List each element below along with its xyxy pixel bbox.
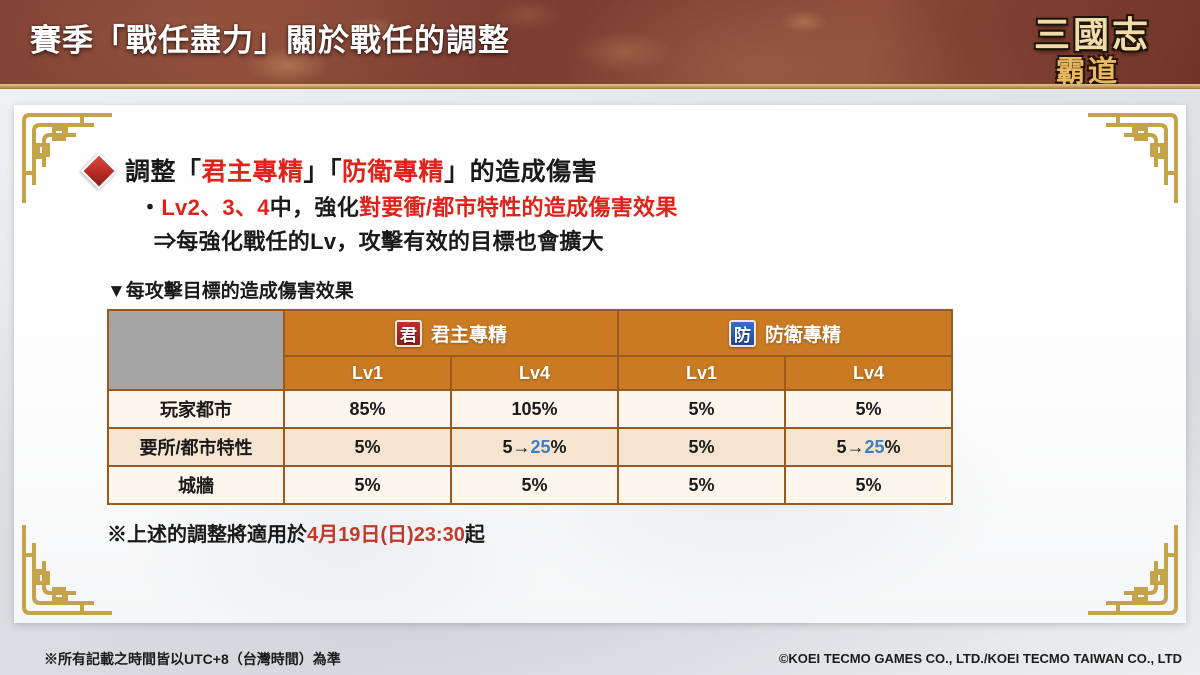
schedule-note-prefix: ※上述的調整將適用於 — [107, 524, 307, 546]
value-before: 5→ — [836, 437, 864, 457]
level-header-defense-lv1: Lv1 — [618, 356, 785, 390]
value-suffix: % — [551, 437, 567, 457]
red-diamond-bullet-icon — [84, 156, 114, 186]
defense-badge-icon: 防 — [729, 320, 756, 347]
damage-effect-table: 君 君主專精 防 防衛專精 Lv1 Lv4 Lv1 Lv4 玩家都市85%105… — [107, 309, 953, 505]
row-label-0: 玩家都市 — [108, 390, 284, 428]
data-cell-r2-c1: 5% — [451, 466, 618, 504]
value-suffix: % — [885, 437, 901, 457]
heading-primary-part-0: 調整「 — [125, 158, 202, 186]
schedule-note-date: 4月19日(日)23:30 — [307, 524, 465, 546]
level-header-lord-lv1: Lv1 — [284, 356, 451, 390]
schedule-note-suffix: 起 — [465, 524, 485, 546]
table-row: 要所/都市特性5%5→25%5%5→25% — [108, 428, 952, 466]
schedule-note: ※上述的調整將適用於4月19日(日)23:30起 — [107, 518, 485, 547]
group-header-lord: 君 君主專精 — [284, 310, 618, 356]
table-group-header-row: 君 君主專精 防 防衛專精 — [108, 310, 952, 356]
data-cell-r2-c2: 5% — [618, 466, 785, 504]
group-label-lord: 君主專精 — [431, 320, 507, 347]
header-divider — [0, 84, 1200, 89]
table-caption: ▼每攻擊目標的造成傷害效果 — [107, 276, 354, 303]
heading-primary-part-2: 」「 — [304, 158, 343, 186]
footer-copyright: ©KOEI TECMO GAMES CO., LTD./KOEI TECMO T… — [779, 651, 1182, 666]
page-title: 賽季「戰任盡力」關於戰任的調整 — [30, 15, 510, 60]
data-cell-r0-c3: 5% — [785, 390, 952, 428]
title-bar: 賽季「戰任盡力」關於戰任的調整 三國志 霸道 — [0, 0, 1200, 84]
heading-sub-line-1-part-3: 對要衝/都市特性的造成傷害效果 — [359, 195, 678, 220]
corner-ornament-bottom-right — [1084, 521, 1180, 617]
group-header-defense: 防 防衛專精 — [618, 310, 952, 356]
value-before: 5→ — [502, 437, 530, 457]
table-body: 玩家都市85%105%5%5%要所/都市特性5%5→25%5%5→25%城牆5%… — [108, 390, 952, 504]
data-cell-r1-c1: 5→25% — [451, 428, 618, 466]
data-cell-r0-c1: 105% — [451, 390, 618, 428]
heading-primary-part-3: 防衛專精 — [342, 158, 444, 186]
table-blank-corner-cell — [108, 310, 284, 390]
data-cell-r1-c2: 5% — [618, 428, 785, 466]
data-cell-r0-c0: 85% — [284, 390, 451, 428]
game-logo: 三國志 霸道 — [1012, 2, 1182, 84]
heading-sub-line-1-part-0: ・ — [139, 195, 161, 220]
heading-sub-line-2: ⇒每強化戰任的Lv，攻擊有效的目標也會擴大 — [154, 224, 604, 256]
heading-sub-line-1-part-2: 中，強化 — [270, 195, 359, 220]
table-row: 城牆5%5%5%5% — [108, 466, 952, 504]
value-after: 25 — [865, 437, 885, 457]
heading-sub-line-1-part-1: Lv2、3、4 — [161, 195, 269, 220]
row-label-1: 要所/都市特性 — [108, 428, 284, 466]
data-cell-r0-c2: 5% — [618, 390, 785, 428]
data-cell-r2-c0: 5% — [284, 466, 451, 504]
data-cell-r2-c3: 5% — [785, 466, 952, 504]
slide-root: 賽季「戰任盡力」關於戰任的調整 三國志 霸道 — [0, 0, 1200, 675]
heading-primary-part-4: 」的造成傷害 — [444, 158, 597, 186]
footer-timezone-note: ※所有記載之時間皆以UTC+8（台灣時間）為準 — [44, 649, 341, 669]
heading-sub-line-1: ・Lv2、3、4中，強化對要衝/都市特性的造成傷害效果 — [139, 190, 678, 222]
heading-primary: 調整「君主專精」「防衛專精」的造成傷害 — [125, 152, 597, 188]
data-cell-r1-c3: 5→25% — [785, 428, 952, 466]
data-cell-r1-c0: 5% — [284, 428, 451, 466]
heading-primary-part-1: 君主專精 — [202, 158, 304, 186]
value-after: 25 — [530, 437, 550, 457]
corner-ornament-top-right — [1084, 111, 1180, 207]
level-header-defense-lv4: Lv4 — [785, 356, 952, 390]
logo-sub-text: 霸道 — [1056, 48, 1120, 84]
table-row: 玩家都市85%105%5%5% — [108, 390, 952, 428]
group-label-defense: 防衛專精 — [765, 320, 841, 347]
level-header-lord-lv4: Lv4 — [451, 356, 618, 390]
lord-badge-icon: 君 — [395, 320, 422, 347]
corner-ornament-bottom-left — [20, 521, 116, 617]
table-head: 君 君主專精 防 防衛專精 Lv1 Lv4 Lv1 Lv4 — [108, 310, 952, 390]
row-label-2: 城牆 — [108, 466, 284, 504]
